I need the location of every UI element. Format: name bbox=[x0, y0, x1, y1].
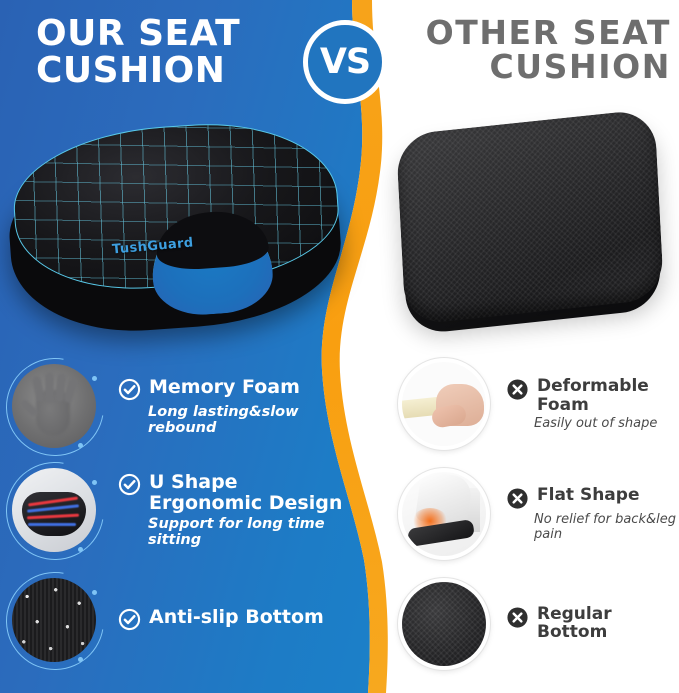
feature-title-row: Anti-slip Bottom bbox=[118, 607, 324, 631]
regular-bottom-image bbox=[402, 582, 486, 666]
our-cushion-heading-line1: OUR SEAT bbox=[36, 13, 240, 54]
feature-text-block: Deformable Foam Easily out of shape bbox=[506, 377, 678, 431]
check-circle-icon bbox=[118, 473, 141, 496]
vs-badge: VS bbox=[303, 20, 387, 104]
feature-title-row: Regular Bottom bbox=[506, 605, 678, 642]
other-feature-row-flat-shape: Flat Shape No relief for back&leg pain bbox=[398, 468, 678, 560]
back-pain-image bbox=[402, 472, 486, 556]
our-cushion-product-image: TushGuard bbox=[4, 108, 354, 338]
feature-text-block: Memory Foam Long lasting&slow rebound bbox=[118, 377, 354, 436]
our-cushion-heading: OUR SEAT CUSHION bbox=[36, 16, 306, 89]
feature-title-row: Memory Foam bbox=[118, 377, 354, 401]
feature-title-row: U Shape Ergonomic Design bbox=[118, 472, 354, 513]
regular-bottom-thumbnail bbox=[398, 578, 490, 670]
other-feature-row-regular-bottom: Regular Bottom bbox=[398, 578, 678, 670]
ring-dot-top bbox=[92, 590, 97, 595]
other-cushion-surface bbox=[396, 108, 665, 325]
vs-label: VS bbox=[320, 45, 370, 80]
feature-subtitle: Easily out of shape bbox=[534, 416, 678, 431]
our-feature-row-anti-slip: Anti-slip Bottom bbox=[6, 572, 354, 668]
check-circle-icon bbox=[118, 608, 141, 631]
feature-subtitle: No relief for back&leg pain bbox=[534, 512, 678, 542]
feature-title-row: Flat Shape bbox=[506, 486, 678, 510]
x-circle-icon bbox=[506, 606, 529, 629]
x-circle-icon bbox=[506, 378, 529, 401]
feature-text-block: Flat Shape No relief for back&leg pain bbox=[506, 486, 678, 542]
ring-dot-top bbox=[92, 480, 97, 485]
feature-text-block: Regular Bottom bbox=[506, 605, 678, 644]
our-cushion-heading-line2: CUSHION bbox=[36, 53, 306, 90]
other-cushion-heading-line2: CUSHION bbox=[381, 50, 671, 84]
ring-dot-bottom bbox=[78, 657, 83, 662]
feature-title: U Shape Ergonomic Design bbox=[149, 472, 349, 513]
other-feature-row-deformable-foam: Deformable Foam Easily out of shape bbox=[398, 358, 678, 450]
feature-subtitle: Support for long time sitting bbox=[148, 516, 354, 548]
check-circle-icon bbox=[118, 378, 141, 401]
feature-title: Memory Foam bbox=[149, 377, 300, 398]
feature-title: Flat Shape bbox=[537, 486, 639, 504]
squeezed-foam-image bbox=[402, 362, 486, 446]
ring-dot-bottom bbox=[78, 547, 83, 552]
feature-text-block: U Shape Ergonomic Design Support for lon… bbox=[118, 472, 354, 548]
feature-title-row: Deformable Foam bbox=[506, 377, 678, 414]
feature-title: Anti-slip Bottom bbox=[149, 607, 324, 628]
hand-imprint-thumbnail bbox=[6, 358, 102, 454]
feature-title: Regular Bottom bbox=[537, 605, 678, 642]
ergonomic-cushion-thumbnail bbox=[6, 462, 102, 558]
back-pain-thumbnail bbox=[398, 468, 490, 560]
squeezed-foam-thumbnail bbox=[398, 358, 490, 450]
our-feature-row-u-shape: U Shape Ergonomic Design Support for lon… bbox=[6, 462, 354, 558]
x-circle-icon bbox=[506, 487, 529, 510]
anti-slip-grip-thumbnail bbox=[6, 572, 102, 668]
ring-dot-bottom bbox=[78, 443, 83, 448]
feature-text-block: Anti-slip Bottom bbox=[118, 607, 324, 634]
our-feature-row-memory-foam: Memory Foam Long lasting&slow rebound bbox=[6, 358, 354, 454]
other-cushion-heading: OTHER SEAT CUSHION bbox=[381, 16, 671, 83]
comparison-infographic: OUR SEAT CUSHION OTHER SEAT CUSHION VS T… bbox=[0, 0, 679, 693]
other-cushion-product-image bbox=[392, 112, 670, 327]
ring-dot-top bbox=[92, 376, 97, 381]
feature-subtitle: Long lasting&slow rebound bbox=[148, 404, 354, 436]
feature-title: Deformable Foam bbox=[537, 377, 678, 414]
